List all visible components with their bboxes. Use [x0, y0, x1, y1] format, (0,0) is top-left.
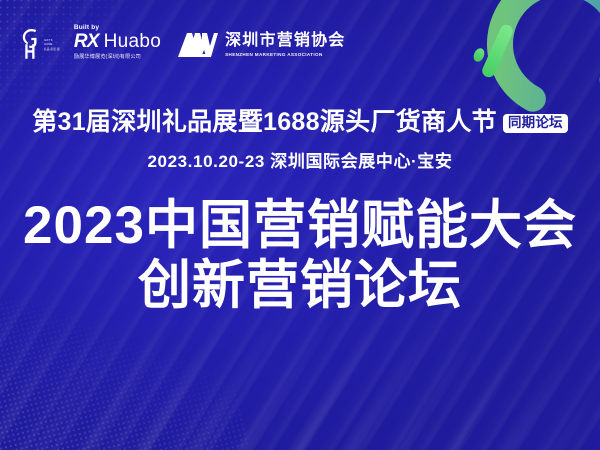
- forum-badge: 同期论坛: [503, 114, 568, 134]
- gh-side-line-1: GIFTS: [44, 39, 60, 42]
- date-venue-line: 2023.10.20-23 深圳国际会展中心·宝安: [0, 147, 600, 172]
- gh-monogram-logo: GIFTS HOME 礼品 家居 展: [18, 28, 60, 62]
- rx-built-by-label: Built by: [74, 24, 161, 31]
- rx-huabo-wordmark: RX Huabo: [74, 32, 161, 51]
- gh-side-line-2: HOME: [44, 43, 60, 46]
- shenzhen-marketing-association-logo: 深圳市营销协会 SHENZHEN MARKETING ASSOCIATION: [175, 30, 345, 60]
- gh-monogram-icon: [18, 28, 42, 62]
- sma-name-cn: 深圳市营销协会: [225, 33, 345, 50]
- huabo-brand-word: Huabo: [104, 32, 162, 51]
- rx-huabo-company-name: 励展华博展览(深圳)有限公司: [74, 53, 161, 60]
- sma-name-en: SHENZHEN MARKETING ASSOCIATION: [225, 52, 345, 57]
- headline-block: 第31届深圳礼品展暨1688源头厂货商人节 同期论坛 2023.10.20-23…: [0, 108, 600, 314]
- sma-monogram-icon: [175, 30, 219, 60]
- gh-side-line-3: 礼品 家居 展: [44, 48, 60, 51]
- rx-huabo-logo: Built by RX Huabo 励展华博展览(深圳)有限公司: [74, 24, 161, 60]
- gh-logo-side-text: GIFTS HOME 礼品 家居 展: [44, 39, 60, 51]
- event-title: 第31届深圳礼品展暨1688源头厂货商人节: [32, 108, 497, 137]
- rx-brand-mark: RX: [74, 32, 99, 51]
- event-title-row: 第31届深圳礼品展暨1688源头厂货商人节 同期论坛: [32, 108, 568, 137]
- main-title-line-1: 2023中国营销赋能大会: [0, 198, 600, 254]
- event-poster: GIFTS HOME 礼品 家居 展 Built by RX Huabo 励展华…: [0, 0, 600, 450]
- sma-text-block: 深圳市营销协会 SHENZHEN MARKETING ASSOCIATION: [225, 33, 345, 57]
- logo-bar: GIFTS HOME 礼品 家居 展 Built by RX Huabo 励展华…: [18, 24, 346, 62]
- main-title-line-2: 创新营销论坛: [0, 258, 600, 314]
